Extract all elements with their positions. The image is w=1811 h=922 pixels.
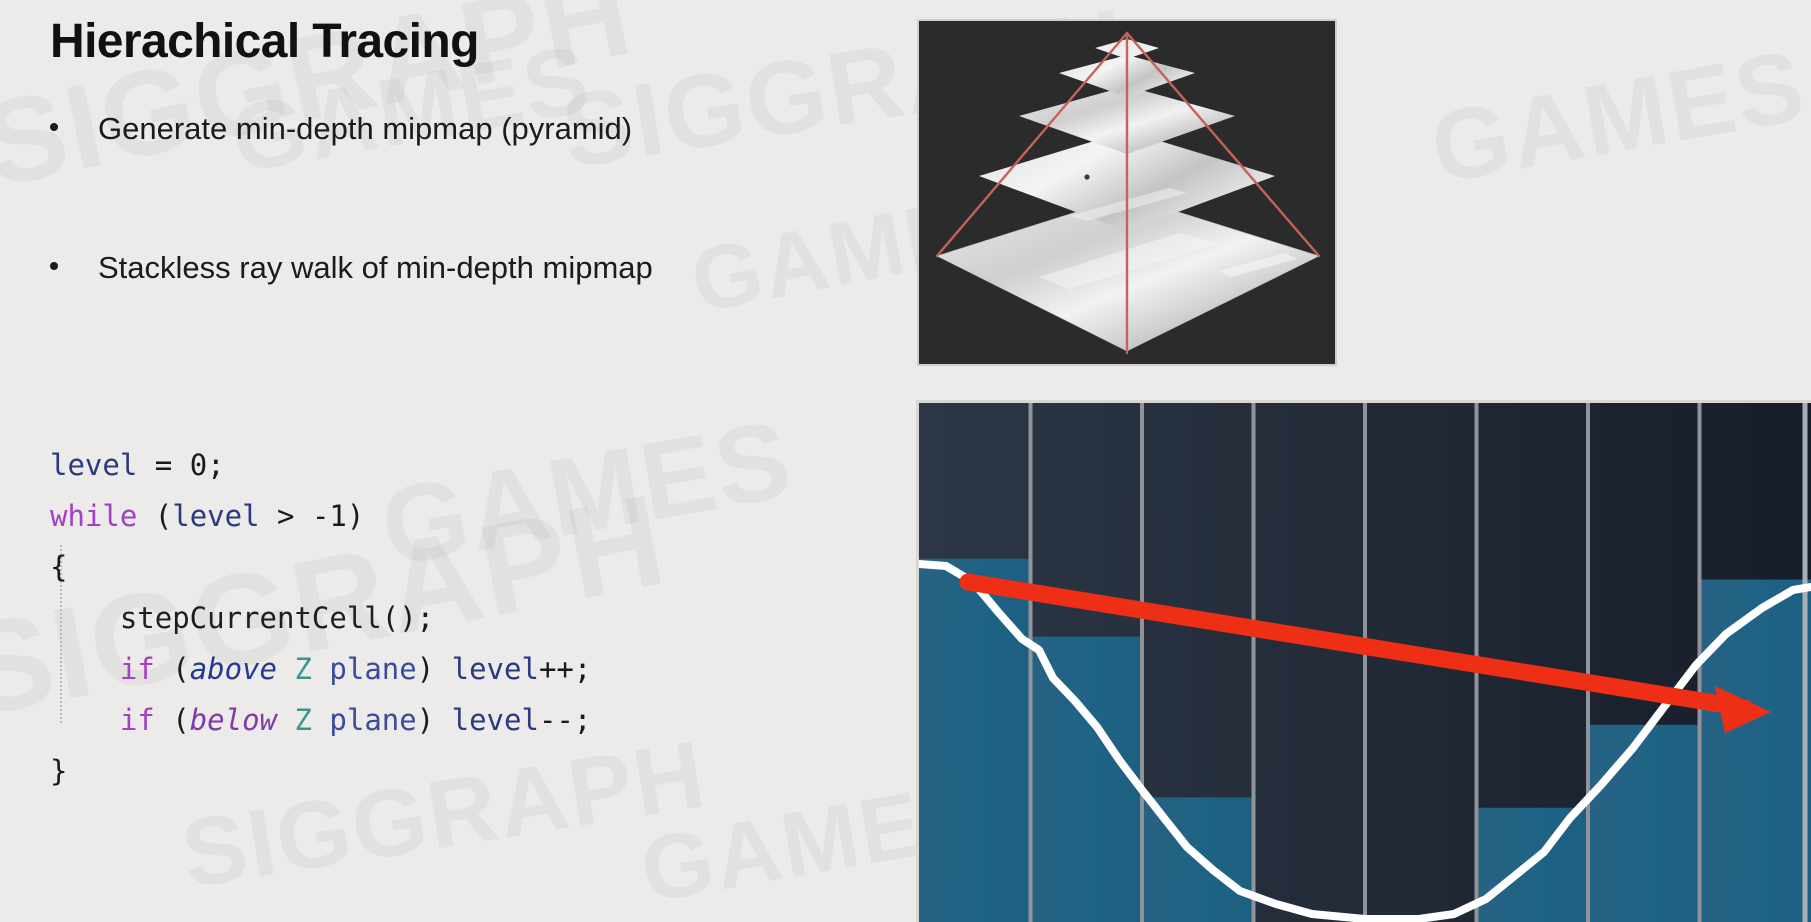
pyramid-sample-point [1084,174,1089,179]
code-token: (); [382,601,434,635]
code-line: stepCurrentCell(); [50,593,591,644]
code-line: { [50,542,591,593]
pyramid-illustration [919,21,1335,364]
code-token: } [50,754,67,788]
code-token: ) [417,652,452,686]
code-token [277,703,294,737]
code-line: } [50,746,591,797]
code-token: level [452,652,539,686]
code-token: plane [329,652,416,686]
code-token [312,652,329,686]
code-block: level = 0;while (level > -1){ stepCurren… [50,440,591,797]
code-token: below [190,703,277,737]
slide-canvas: SIGGRAPH GAMES SIGGRAPH GAMES SIGGRAPH G… [0,0,1811,922]
bullet-dot-icon [50,262,58,270]
bullet-list: Generate min-depth mipmap (pyramid) Stac… [48,110,848,286]
min-depth-cell [1700,580,1811,922]
code-token: stepCurrentCell [120,601,382,635]
watermark-text: GAMES [1423,28,1811,207]
slide-title: Hierachical Tracing [50,14,479,69]
code-token: Z [294,652,311,686]
figure-mipmap-pyramid [917,19,1337,366]
min-depth-cell [919,559,1031,922]
list-item-label: Stackless ray walk of min-depth mipmap [98,250,653,285]
code-line: level = 0; [50,440,591,491]
code-token [50,652,120,686]
code-token: > [260,499,312,533]
list-item: Generate min-depth mipmap (pyramid) [48,110,848,147]
code-line: if (above Z plane) level++; [50,644,591,695]
code-token [50,703,120,737]
code-token: while [50,499,137,533]
code-token: level [452,703,539,737]
min-depth-cell [1031,637,1143,922]
code-token [277,652,294,686]
code-token: 0 [190,448,207,482]
code-line: while (level > -1) [50,491,591,542]
code-token: ( [155,652,190,686]
figure-heightfield-ray-walk [916,400,1811,922]
code-token: ++; [539,652,591,686]
code-token: Z [294,703,311,737]
code-token: level [50,448,137,482]
code-token: level [172,499,259,533]
list-item-label: Generate min-depth mipmap (pyramid) [98,111,632,146]
code-line: if (below Z plane) level--; [50,695,591,746]
code-token [312,703,329,737]
code-token: { [50,550,67,584]
code-token: ; [207,448,224,482]
code-token: plane [329,703,416,737]
code-token: ) [417,703,452,737]
code-token: -1 [312,499,347,533]
code-token: above [190,652,277,686]
code-token: --; [539,703,591,737]
code-token: ( [137,499,172,533]
bullet-dot-icon [50,123,58,131]
code-token: if [120,652,155,686]
min-depth-cell [1588,725,1700,922]
list-item: Stackless ray walk of min-depth mipmap [48,249,848,286]
code-token: = [137,448,189,482]
code-token: ) [347,499,364,533]
code-token [50,601,120,635]
code-token: ( [155,703,190,737]
heightfield-illustration [919,403,1811,922]
code-token: if [120,703,155,737]
